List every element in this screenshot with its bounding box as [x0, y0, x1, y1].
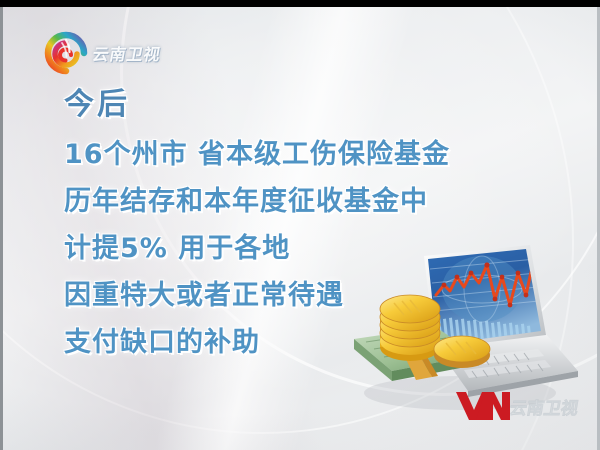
body-text-block: 16个州市 省本级工伤保险基金 历年结存和本年度征收基金中 计提5% 用于各地 …: [64, 131, 450, 366]
body-line: 因重特大或者正常待遇: [64, 272, 450, 319]
channel-logo-text: 云南卫视: [91, 41, 163, 65]
watermark-sub-text: 云南卫视: [508, 398, 580, 419]
broadcast-frame: 云南卫视 今后 16个州市 省本级工伤保险基金 历年结存和本年度征收基金中 计提…: [0, 0, 600, 450]
letterbox-top-bar: [0, 0, 600, 7]
letterbox-left-bar: [0, 0, 3, 450]
watermark-yn-icon: [456, 392, 510, 420]
body-line: 历年结存和本年度征收基金中: [64, 178, 450, 225]
channel-logo: 云南卫视: [43, 29, 193, 77]
body-line: 支付缺口的补助: [64, 319, 450, 366]
page-title: 今后: [64, 79, 130, 123]
channel-watermark: 云南卫视: [452, 386, 592, 432]
peacock-swirl-logo-icon: [43, 30, 89, 76]
body-line: 16个州市 省本级工伤保险基金: [64, 131, 450, 178]
body-line: 计提5% 用于各地: [64, 225, 450, 272]
